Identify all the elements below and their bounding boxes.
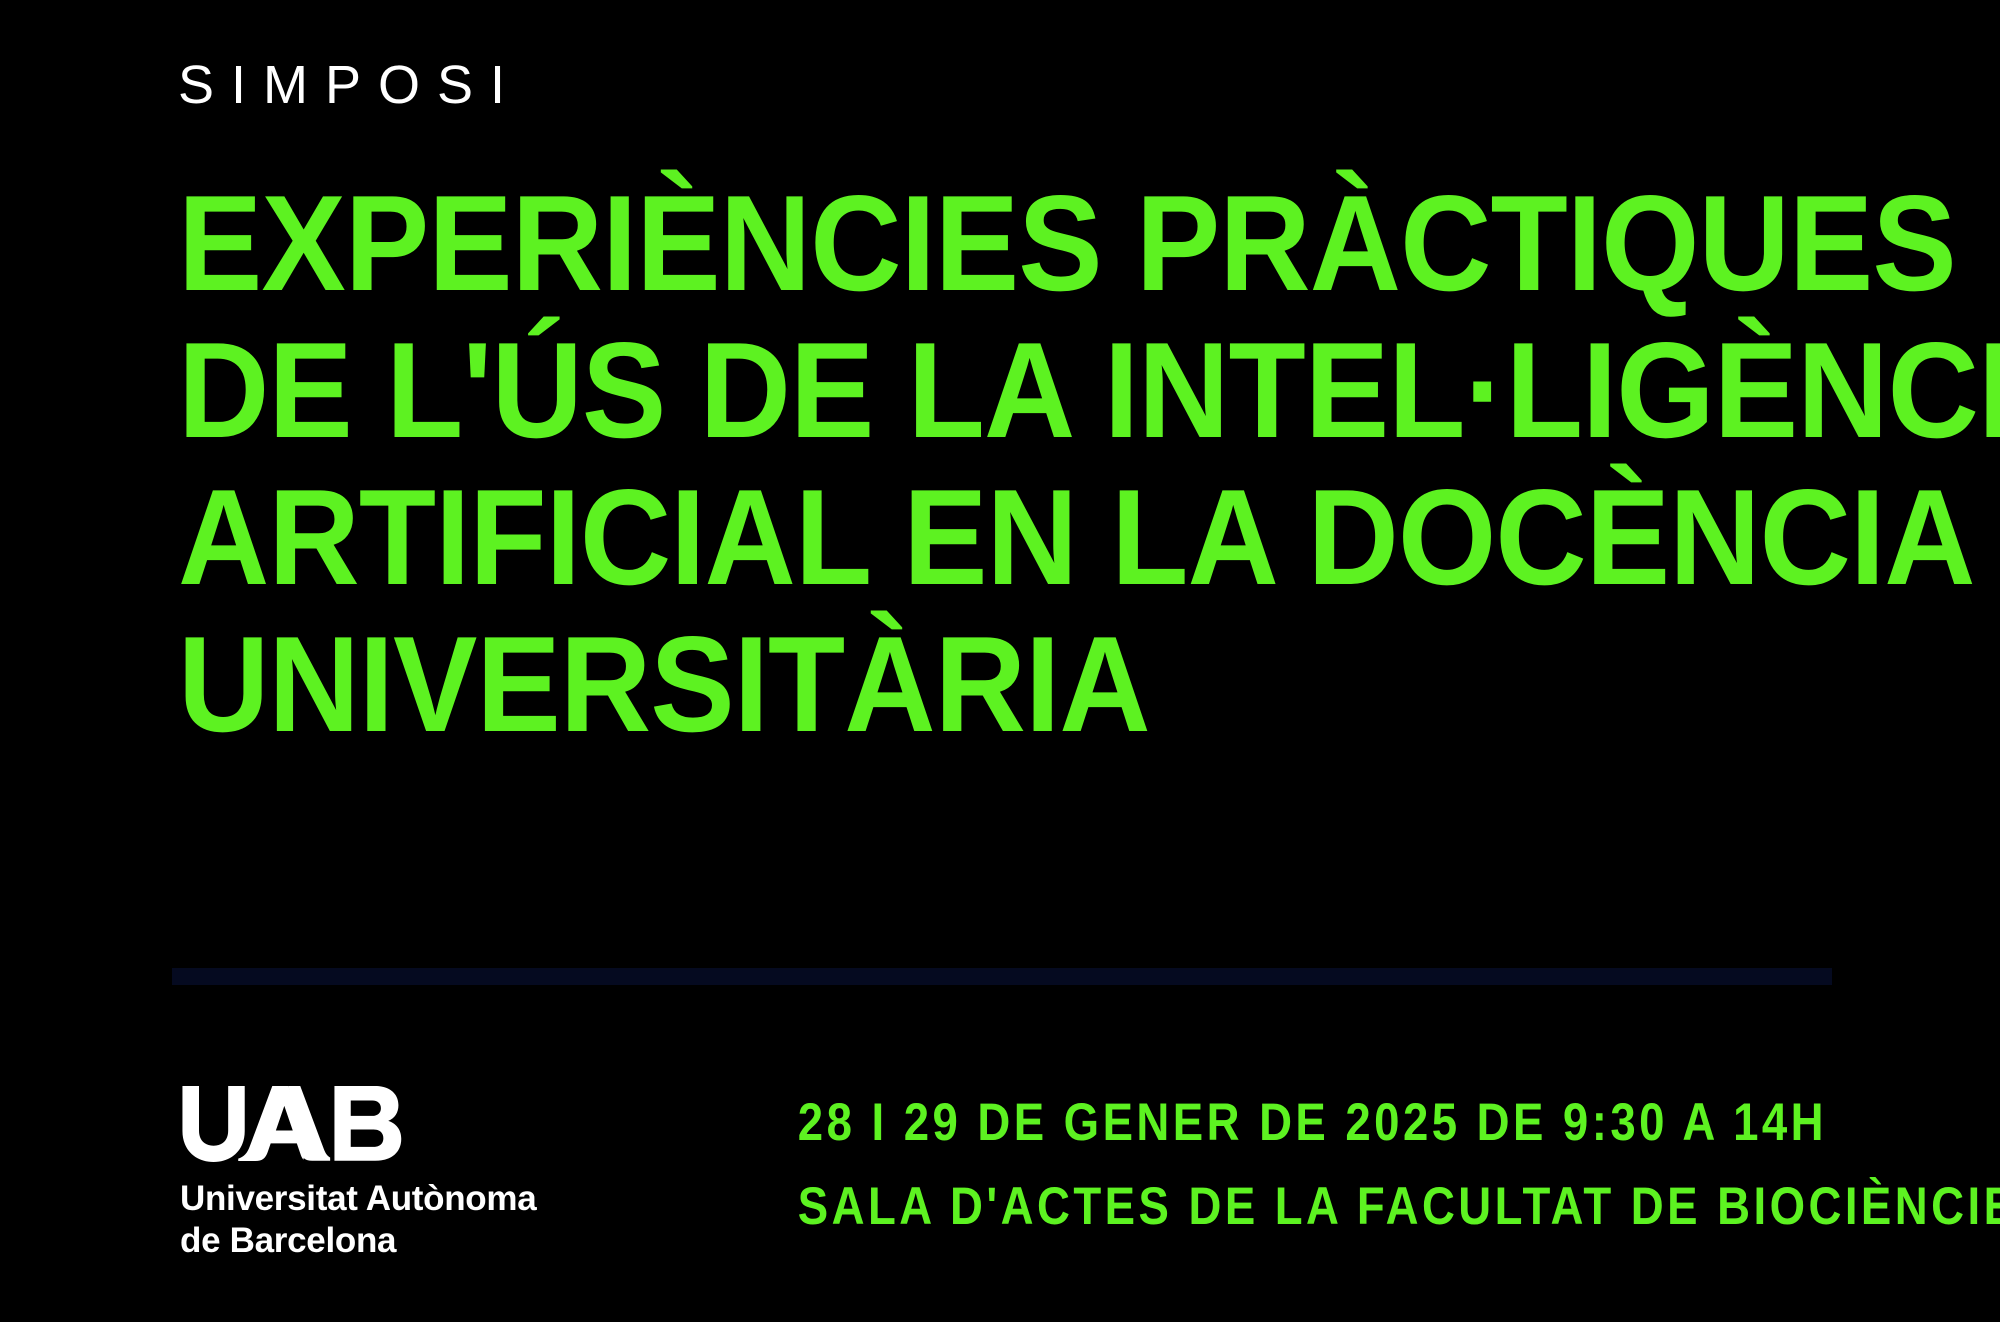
- uab-wordmark-icon: [180, 1086, 420, 1162]
- poster-kicker: SIMPOSI: [178, 58, 522, 112]
- title-line-3: ARTIFICIAL EN LA DOCÈNCIA: [178, 470, 1778, 604]
- title-line-4: UNIVERSITÀRIA: [178, 617, 1778, 751]
- title-line-2: DE L'ÚS DE LA INTEL·LIGÈNCIA: [178, 323, 1778, 457]
- poster-canvas: SIMPOSI EXPERIÈNCIES PRÀCTIQUES DE L'ÚS …: [0, 0, 2000, 1322]
- poster-title: EXPERIÈNCIES PRÀCTIQUES DE L'ÚS DE LA IN…: [178, 176, 1898, 764]
- uab-logo-block: Universitat Autònoma de Barcelona: [180, 1086, 536, 1262]
- event-venue: SALA D'ACTES DE LA FACULTAT DE BIOCIÈNCI…: [798, 1176, 1778, 1238]
- uab-full-name: Universitat Autònoma de Barcelona: [180, 1178, 536, 1262]
- title-line-1: EXPERIÈNCIES PRÀCTIQUES: [178, 176, 1778, 310]
- event-info-block: 28 I 29 DE GENER DE 2025 DE 9:30 A 14H S…: [718, 1092, 1858, 1238]
- section-divider: [172, 968, 1832, 985]
- event-date-time: 28 I 29 DE GENER DE 2025 DE 9:30 A 14H: [798, 1092, 1778, 1154]
